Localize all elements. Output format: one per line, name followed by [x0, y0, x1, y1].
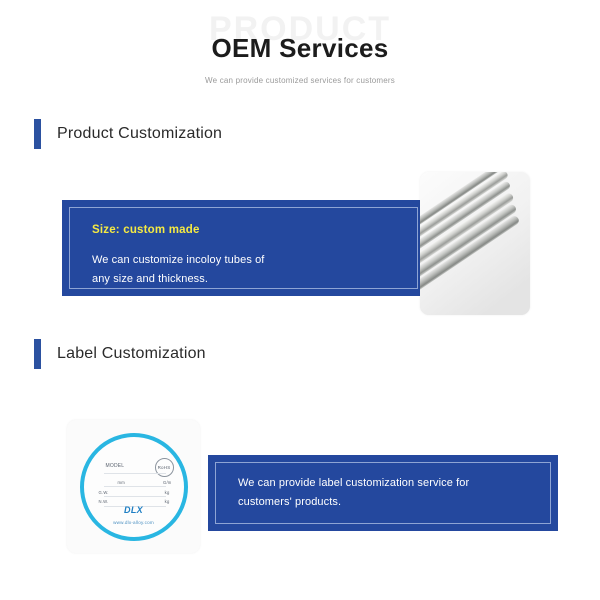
page-title: OEM Services [0, 18, 600, 63]
label-unit-gross-weight: kg [165, 490, 170, 495]
label-divider [104, 486, 166, 487]
label-divider [104, 496, 166, 497]
panel-heading-size: Size: custom made [92, 224, 395, 236]
panel-body-line-2: customers' products. [238, 493, 528, 512]
section-title-label-customization: Label Customization [57, 345, 206, 363]
label-unit-net-weight: kg [165, 499, 170, 504]
product-label-photo: MODEL RoHS mm G/m G.W. kg N.W. kg DLX ww… [67, 420, 200, 553]
label-field-gross-weight: G.W. [99, 490, 109, 495]
round-label-illustration: MODEL RoHS mm G/m G.W. kg N.W. kg DLX ww… [80, 433, 188, 541]
panel-body-line-1: We can customize incoloy tubes of [92, 251, 395, 270]
panel-body-line-1: We can provide label customization servi… [238, 474, 528, 493]
rohs-badge-icon: RoHS [155, 458, 174, 477]
label-unit-density: G/m [163, 480, 172, 485]
label-face: MODEL RoHS mm G/m G.W. kg N.W. kg DLX ww… [84, 437, 184, 537]
accent-bar-icon [34, 339, 41, 369]
label-divider [104, 473, 166, 474]
label-field-model: MODEL [106, 463, 125, 469]
brand-website: www.dlx-alloy.com [84, 520, 184, 525]
label-customization-panel: We can provide label customization servi… [208, 455, 558, 531]
label-field-net-weight: N.W. [99, 499, 109, 504]
panel-inner-border: We can provide label customization servi… [215, 462, 551, 524]
page-subtitle: We can provide customized services for c… [0, 63, 600, 85]
section-heading-product-customization: Product Customization [34, 119, 600, 149]
page-header: PRODUCT OEM Services We can provide cust… [0, 0, 600, 85]
section-heading-label-customization: Label Customization [34, 339, 600, 369]
brand-logo: DLX [84, 505, 184, 515]
panel-inner-border: Size: custom made We can customize incol… [69, 207, 418, 289]
product-customization-panel: Size: custom made We can customize incol… [62, 200, 425, 296]
label-field-mm: mm [118, 480, 125, 485]
incoloy-tubes-photo [420, 172, 530, 315]
accent-bar-icon [34, 119, 41, 149]
panel-body-line-2: any size and thickness. [92, 270, 395, 289]
tubes-illustration [420, 172, 530, 315]
section-title-product-customization: Product Customization [57, 125, 222, 143]
